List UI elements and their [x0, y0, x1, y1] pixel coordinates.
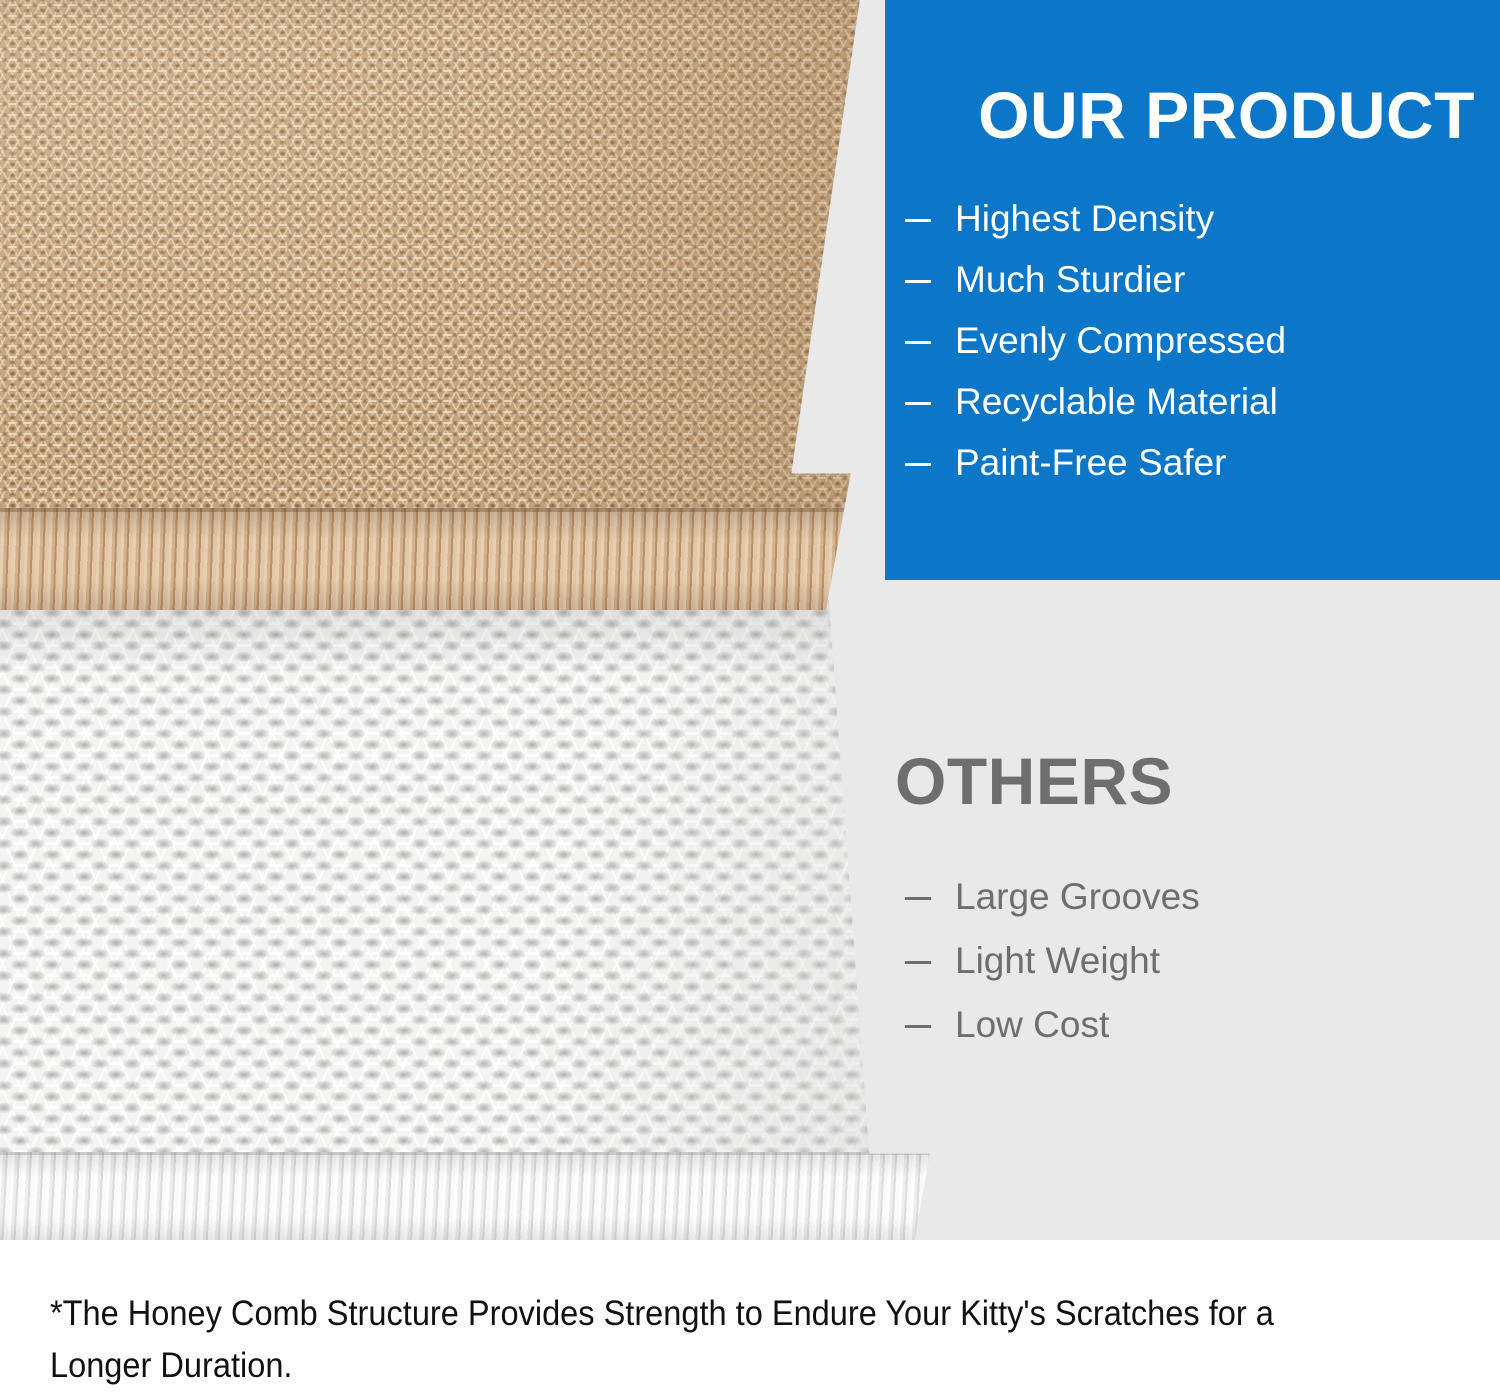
dash-marker-icon [905, 280, 933, 283]
dash-marker-icon [905, 961, 933, 964]
feature-label: Much Sturdier [955, 261, 1185, 298]
list-item: Highest Density [905, 200, 1485, 237]
others-honeycomb-slab-image [0, 600, 950, 1240]
white-honeycomb-shading [0, 600, 950, 1160]
feature-label: Evenly Compressed [955, 322, 1286, 359]
kraft-honeycomb-shading [0, 0, 920, 515]
dash-marker-icon [905, 341, 933, 344]
list-item: Light Weight [905, 942, 1485, 979]
feature-label: Light Weight [955, 942, 1160, 979]
list-item: Paint-Free Safer [905, 444, 1485, 481]
others-section: OTHERS Large Grooves Light Weight Low Co… [885, 600, 1500, 1160]
list-item: Evenly Compressed [905, 322, 1485, 359]
white-honeycomb-top-face [0, 600, 950, 1160]
our-product-honeycomb-slab-image [0, 0, 920, 610]
dash-marker-icon [905, 1025, 933, 1028]
list-item: Large Grooves [905, 878, 1485, 915]
dash-marker-icon [905, 219, 933, 222]
dash-marker-icon [905, 402, 933, 405]
feature-label: Low Cost [955, 1006, 1109, 1043]
others-feature-list: Large Grooves Light Weight Low Cost [905, 878, 1485, 1070]
footnote-text: *The Honey Comb Structure Provides Stren… [50, 1288, 1287, 1392]
kraft-honeycomb-top-face [0, 0, 920, 515]
our-product-feature-list: Highest Density Much Sturdier Evenly Com… [905, 200, 1485, 481]
list-item: Low Cost [905, 1006, 1485, 1043]
white-slab-side-edge [0, 1152, 950, 1240]
feature-label: Recyclable Material [955, 383, 1278, 420]
others-title: OTHERS [895, 748, 1173, 814]
dash-marker-icon [905, 897, 933, 900]
feature-label: Highest Density [955, 200, 1214, 237]
our-product-section: OUR PRODUCT Highest Density Much Sturdie… [885, 0, 1500, 580]
infographic-page: OUR PRODUCT Highest Density Much Sturdie… [0, 0, 1500, 1392]
list-item: Recyclable Material [905, 383, 1485, 420]
list-item: Much Sturdier [905, 261, 1485, 298]
kraft-slab-side-edge [0, 508, 920, 610]
feature-label: Paint-Free Safer [955, 444, 1226, 481]
our-product-title: OUR PRODUCT [865, 82, 1475, 148]
dash-marker-icon [905, 463, 933, 466]
feature-label: Large Grooves [955, 878, 1200, 915]
